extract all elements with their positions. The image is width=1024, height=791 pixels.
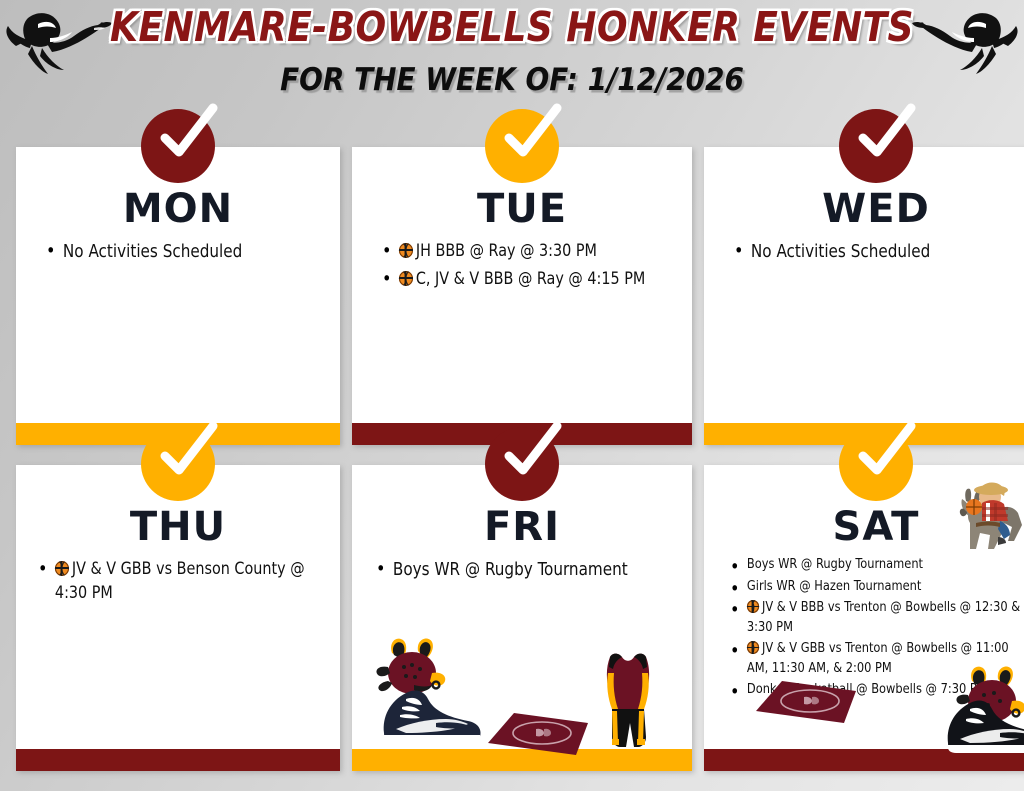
day-card-fri: FRI Boys WR @ Rugby Tournament <box>352 465 692 771</box>
card-footer-bar-thu <box>16 749 340 771</box>
list-item: Boys WR @ Rugby Tournament <box>730 555 1021 575</box>
day-card-thu: THU JV & V GBB vs Benson County @ 4:30 P… <box>16 465 340 771</box>
event-list-sat: Boys WR @ Rugby Tournament Girls WR @ Ha… <box>704 555 1024 749</box>
check-badge-wed <box>839 109 913 183</box>
poster-subtitle: FOR THE WEEK OF: 1/12/2026 <box>51 62 973 98</box>
day-card-mon: MON No Activities Scheduled <box>16 147 340 445</box>
event-list-mon: No Activities Scheduled <box>16 239 340 423</box>
basketball-icon <box>747 600 759 613</box>
basketball-icon <box>55 561 69 576</box>
basketball-icon <box>399 243 413 258</box>
list-item: JV & V BBB vs Trenton @ Bowbells @ 12:30… <box>730 598 1021 637</box>
day-card-tue: TUE JH BBB @ Ray @ 3:30 PM C, JV & V BBB… <box>352 147 692 445</box>
list-item: Donkey Basketball @ Bowbells @ 7:30 PM <box>730 680 1021 700</box>
check-badge-thu <box>141 427 215 501</box>
event-list-fri: Boys WR @ Rugby Tournament <box>352 557 692 749</box>
event-list-tue: JH BBB @ Ray @ 3:30 PM C, JV & V BBB @ R… <box>352 239 692 423</box>
day-title-thu: THU <box>16 507 340 547</box>
list-item: C, JV & V BBB @ Ray @ 4:15 PM <box>382 267 664 291</box>
poster-title: KENMARE-BOWBELLS HONKER EVENTS <box>61 3 962 51</box>
list-item: JH BBB @ Ray @ 3:30 PM <box>382 239 664 263</box>
list-item: Boys WR @ Rugby Tournament <box>376 557 664 583</box>
event-list-wed: No Activities Scheduled <box>704 239 1024 423</box>
basketball-icon <box>747 641 759 654</box>
check-badge-fri <box>485 427 559 501</box>
list-item: No Activities Scheduled <box>46 239 313 265</box>
day-title-mon: MON <box>16 189 340 229</box>
basketball-icon <box>399 271 413 286</box>
list-item: Girls WR @ Hazen Tournament <box>730 577 1021 597</box>
card-footer-bar-sat <box>704 749 1024 771</box>
day-card-wed: WED No Activities Scheduled <box>704 147 1024 445</box>
check-badge-sat <box>839 427 913 501</box>
day-title-fri: FRI <box>352 507 692 547</box>
day-title-sat: SAT <box>704 507 1024 547</box>
card-footer-bar-fri <box>352 749 692 771</box>
list-item: JV & V GBB vs Trenton @ Bowbells @ 11:00… <box>730 639 1021 678</box>
list-item: No Activities Scheduled <box>734 239 1020 265</box>
day-title-wed: WED <box>704 189 1024 229</box>
list-item: JV & V GBB vs Benson County @ 4:30 PM <box>38 557 312 605</box>
day-title-tue: TUE <box>352 189 692 229</box>
day-card-sat: SAT <box>704 465 1024 771</box>
week-grid: MON No Activities Scheduled TUE JH BBB @… <box>16 147 1024 771</box>
check-badge-tue <box>485 109 559 183</box>
event-list-thu: JV & V GBB vs Benson County @ 4:30 PM <box>16 557 340 749</box>
check-badge-mon <box>141 109 215 183</box>
honker-events-poster: KENMARE-BOWBELLS HONKER EVENTS FOR THE W… <box>0 0 1024 791</box>
